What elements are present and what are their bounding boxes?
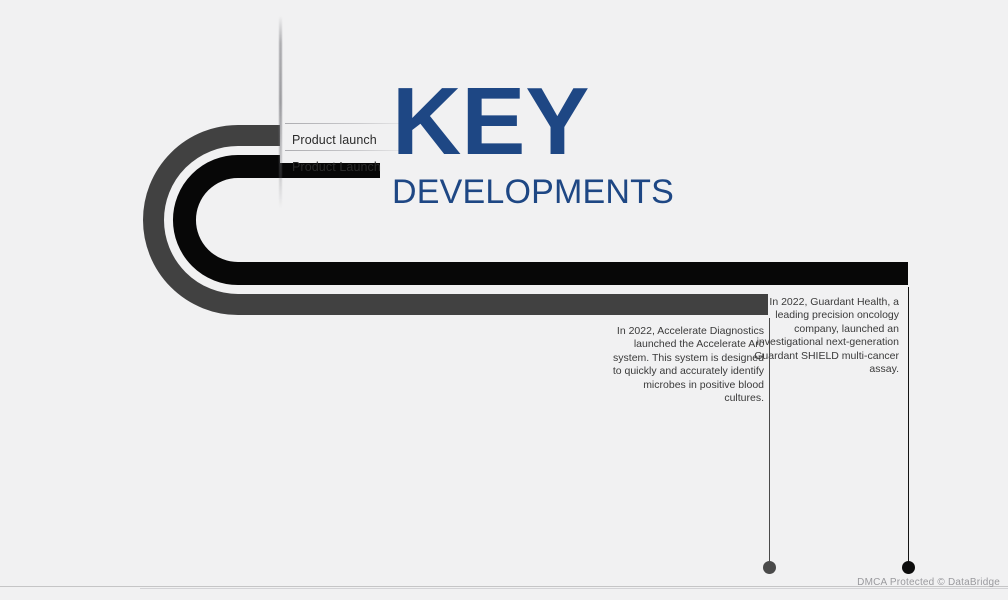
callout-dot-1: [763, 561, 776, 574]
page-title: KEY DEVELOPMENTS: [392, 78, 812, 212]
side-label-product-launch-2: Product Launch: [292, 160, 381, 174]
title-main-text: KEY: [392, 78, 812, 166]
callout-text-guardant-health: In 2022, Guardant Health, a leading prec…: [744, 296, 899, 376]
side-label-product-launch-1: Product launch: [292, 133, 377, 147]
footer-divider-secondary: [140, 588, 1008, 589]
watermark-text: DMCA Protected © DataBridge: [857, 577, 1000, 588]
vertical-divider-gradient: [279, 16, 282, 208]
callout-stem-2: [908, 287, 909, 563]
title-sub-text: DEVELOPMENTS: [392, 172, 812, 212]
callout-dot-2: [902, 561, 915, 574]
slide-canvas: Product launch Product Launch KEY DEVELO…: [0, 0, 1008, 600]
callout-text-accelerate-diagnostics: In 2022, Accelerate Diagnostics launched…: [607, 325, 764, 405]
